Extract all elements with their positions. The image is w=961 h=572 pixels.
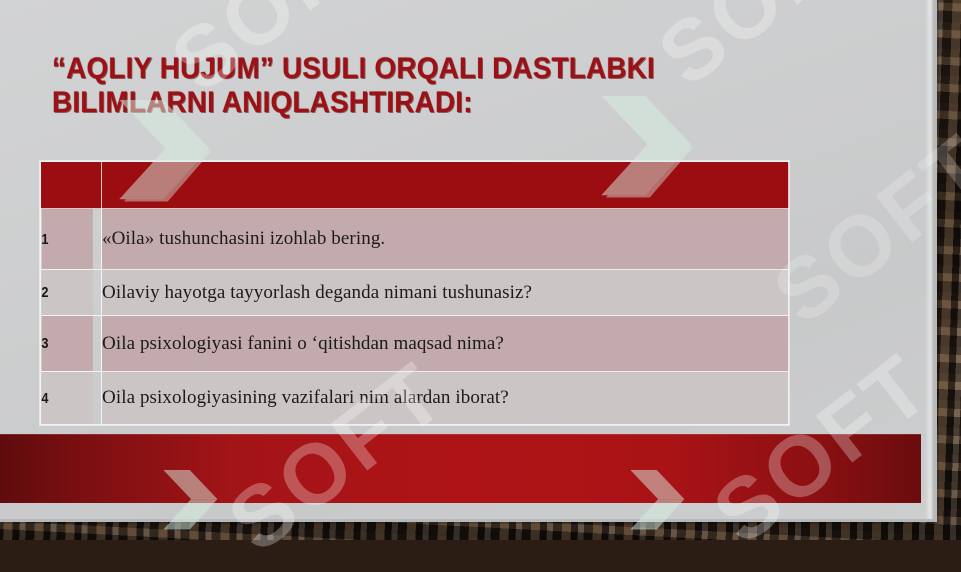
questions-table: 1 «Oila» tushunchasini izohlab bering. 2… xyxy=(40,161,789,425)
table-header-row xyxy=(41,162,789,209)
row-number: 2 xyxy=(41,270,93,316)
table-header-cell-question xyxy=(102,162,789,209)
table-row: 2 Oilaviy hayotga tayyorlash deganda nim… xyxy=(41,270,789,316)
slide-footer-band xyxy=(0,434,921,503)
table-body: 1 «Oila» tushunchasini izohlab bering. 2… xyxy=(41,209,789,425)
row-number: 3 xyxy=(41,316,93,372)
table-row: 3 Oila psixologiyasi fanini o ‘qitishdan… xyxy=(41,316,789,372)
row-question: «Oila» tushunchasini izohlab bering. xyxy=(102,209,789,270)
row-question: Oila psixologiyasi fanini o ‘qitishdan m… xyxy=(102,316,789,372)
row-question: Oila psixologiyasining vazifalari nim al… xyxy=(102,372,789,425)
presentation-slide: “AQLIY HUJUM” USULI ORQALI DASTLABKI BIL… xyxy=(0,0,937,522)
row-number: 4 xyxy=(41,372,93,425)
table-header-cell-number xyxy=(41,162,102,209)
table-row: 4 Oila psixologiyasining vazifalari nim … xyxy=(41,372,789,425)
row-number: 1 xyxy=(41,209,93,270)
page-title: “AQLIY HUJUM” USULI ORQALI DASTLABKI BIL… xyxy=(52,52,824,120)
row-question: Oilaviy hayotga tayyorlash deganda niman… xyxy=(102,270,789,316)
table-header xyxy=(41,162,789,209)
table-row: 1 «Oila» tushunchasini izohlab bering. xyxy=(41,209,789,270)
